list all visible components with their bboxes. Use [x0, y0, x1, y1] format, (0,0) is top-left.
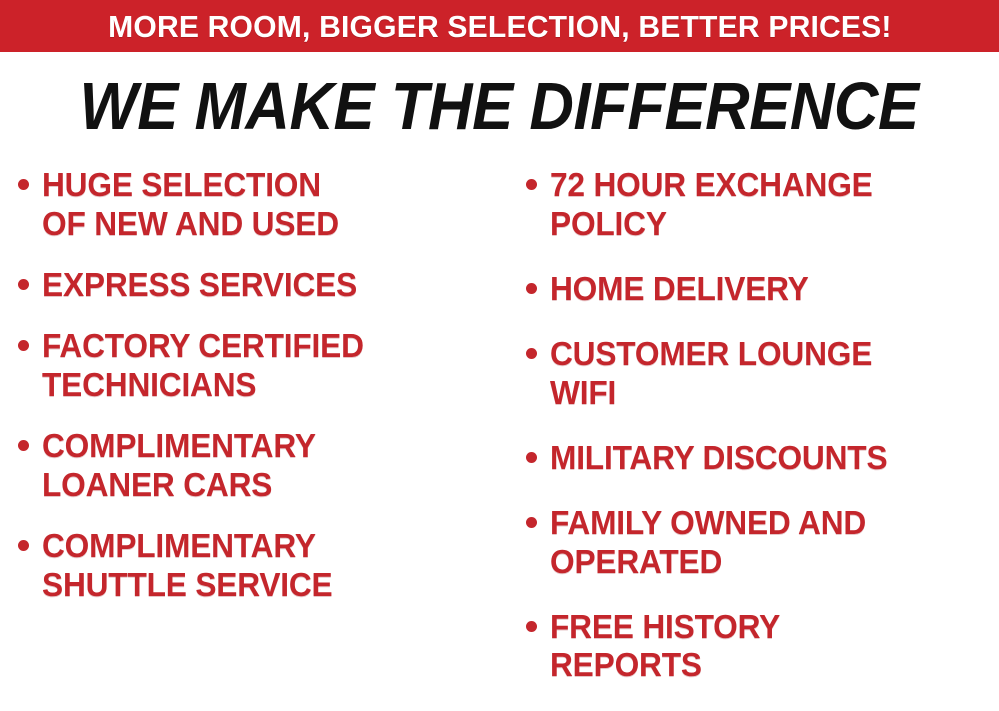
- benefits-column-right: 72 HOUR EXCHANGE POLICY HOME DELIVERY CU…: [505, 158, 999, 711]
- list-item: 72 HOUR EXCHANGE POLICY: [526, 166, 999, 244]
- banner-headline-text: MORE ROOM, BIGGER SELECTION, BETTER PRIC…: [108, 11, 892, 42]
- list-item-line2: WIFI: [550, 374, 616, 411]
- list-item-line2: REPORTS: [550, 646, 702, 683]
- benefits-columns: HUGE SELECTION OF NEW AND USED EXPRESS S…: [0, 158, 999, 692]
- bullet-circle-icon: [18, 540, 29, 551]
- list-item-line2: TECHNICIANS: [42, 366, 256, 403]
- bullet-circle-icon: [18, 179, 29, 190]
- list-item-label: CUSTOMER LOUNGE WIFI: [550, 335, 872, 413]
- bullet-circle-icon: [526, 179, 537, 190]
- list-item: HOME DELIVERY: [526, 270, 999, 309]
- list-item-line1: FREE HISTORY: [550, 608, 780, 645]
- list-item: MILITARY DISCOUNTS: [526, 439, 999, 478]
- list-item-label: HUGE SELECTION OF NEW AND USED: [42, 166, 339, 244]
- list-item-line2: POLICY: [550, 205, 667, 242]
- bullet-circle-icon: [526, 621, 537, 632]
- list-item-label: COMPLIMENTARY LOANER CARS: [42, 427, 316, 505]
- list-item: COMPLIMENTARY SHUTTLE SERVICE: [18, 527, 505, 605]
- benefits-column-left: HUGE SELECTION OF NEW AND USED EXPRESS S…: [0, 158, 505, 626]
- list-item-line2: OPERATED: [550, 543, 722, 580]
- list-item-label: EXPRESS SERVICES: [42, 266, 357, 305]
- list-item-line1: CUSTOMER LOUNGE: [550, 335, 872, 372]
- list-item: FREE HISTORY REPORTS: [526, 608, 999, 686]
- list-item: CUSTOMER LOUNGE WIFI: [526, 335, 999, 413]
- list-item-line1: 72 HOUR EXCHANGE: [550, 166, 873, 203]
- bullet-circle-icon: [526, 452, 537, 463]
- top-banner: MORE ROOM, BIGGER SELECTION, BETTER PRIC…: [0, 0, 999, 52]
- list-item-line1: COMPLIMENTARY: [42, 427, 316, 464]
- bullet-circle-icon: [526, 348, 537, 359]
- list-item-label: COMPLIMENTARY SHUTTLE SERVICE: [42, 527, 333, 605]
- list-item-label: HOME DELIVERY: [550, 270, 809, 309]
- list-item-line1: FAMILY OWNED AND: [550, 504, 866, 541]
- list-item-label: 72 HOUR EXCHANGE POLICY: [550, 166, 873, 244]
- list-item: FACTORY CERTIFIED TECHNICIANS: [18, 327, 505, 405]
- bullet-circle-icon: [18, 440, 29, 451]
- promotional-poster: MORE ROOM, BIGGER SELECTION, BETTER PRIC…: [0, 0, 999, 692]
- list-item-line2: OF NEW AND USED: [42, 205, 339, 242]
- list-item-line1: COMPLIMENTARY: [42, 527, 316, 564]
- bullet-circle-icon: [18, 340, 29, 351]
- list-item-line1: HUGE SELECTION: [42, 166, 321, 203]
- bullet-circle-icon: [18, 279, 29, 290]
- list-item-line1: FACTORY CERTIFIED: [42, 327, 364, 364]
- list-item-label: FREE HISTORY REPORTS: [550, 608, 780, 686]
- list-item-line2: SHUTTLE SERVICE: [42, 566, 333, 603]
- bullet-circle-icon: [526, 283, 537, 294]
- list-item-label: MILITARY DISCOUNTS: [550, 439, 887, 478]
- list-item: FAMILY OWNED AND OPERATED: [526, 504, 999, 582]
- list-item-label: FAMILY OWNED AND OPERATED: [550, 504, 866, 582]
- list-item-line1: MILITARY DISCOUNTS: [550, 439, 887, 476]
- list-item-line1: HOME DELIVERY: [550, 270, 809, 307]
- bullet-circle-icon: [526, 517, 537, 528]
- list-item-line2: LOANER CARS: [42, 466, 272, 503]
- list-item-line1: EXPRESS SERVICES: [42, 266, 357, 303]
- page-title: WE MAKE THE DIFFERENCE: [80, 73, 919, 140]
- list-item: COMPLIMENTARY LOANER CARS: [18, 427, 505, 505]
- list-item: EXPRESS SERVICES: [18, 266, 505, 305]
- headline-container: WE MAKE THE DIFFERENCE: [0, 62, 999, 150]
- list-item: HUGE SELECTION OF NEW AND USED: [18, 166, 505, 244]
- list-item-label: FACTORY CERTIFIED TECHNICIANS: [42, 327, 364, 405]
